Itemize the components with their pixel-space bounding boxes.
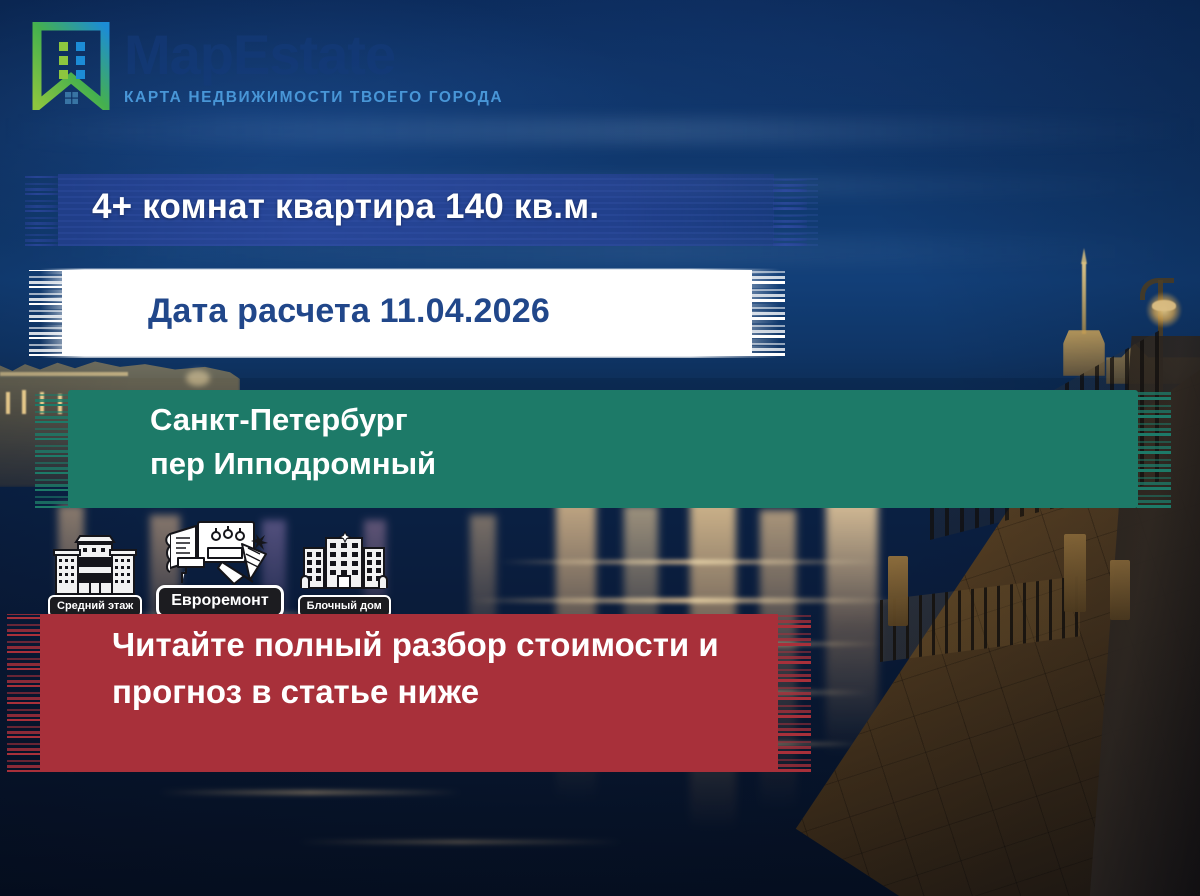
calculation-date: Дата расчета 11.04.2026 — [148, 292, 848, 331]
bookmark-building-icon — [32, 22, 110, 110]
cta-text: Читайте полный разбор стоимости и прогно… — [112, 622, 802, 716]
brand-tagline: КАРТА НЕДВИЖИМОСТИ ТВОЕГО ГОРОДА — [124, 89, 503, 107]
promo-poster: MapEstate КАРТА НЕДВИЖИМОСТИ ТВОЕГО ГОРО… — [0, 0, 1200, 896]
feature-badge-block-house[interactable]: Блочный дом — [298, 530, 391, 618]
brand-name: MapEstate — [124, 23, 395, 86]
address-city: Санкт-Петербург — [150, 398, 1050, 442]
brand-text: MapEstate КАРТА НЕДВИЖИМОСТИ ТВОЕГО ГОРО… — [124, 25, 503, 107]
mid-floor-building-icon — [52, 534, 138, 601]
block-house-icon — [298, 530, 390, 601]
feature-badge-mid-floor[interactable]: Средний этаж — [48, 534, 142, 618]
feature-badge-renovation[interactable]: Евроремонт — [156, 518, 283, 618]
address-street: пер Ипподромный — [150, 442, 1050, 486]
feature-badges: Средний этаж — [48, 518, 391, 618]
address-block: Санкт-Петербург пер Ипподромный — [150, 398, 1050, 486]
page-title: 4+ комнат квартира 140 кв.м. — [92, 186, 852, 228]
brand-logo[interactable]: MapEstate КАРТА НЕДВИЖИМОСТИ ТВОЕГО ГОРО… — [32, 22, 503, 110]
renovation-tools-icon — [164, 518, 276, 591]
